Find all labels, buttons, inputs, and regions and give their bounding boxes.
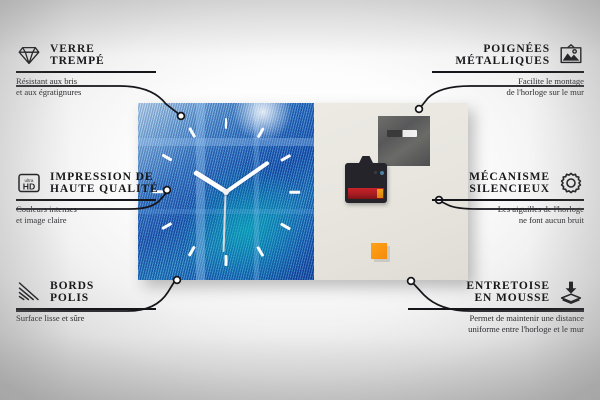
pattern-beam bbox=[138, 138, 314, 146]
feature-subtitle: Couleurs intenses et image claire bbox=[16, 204, 156, 226]
ultra-hd-icon: ultra HD bbox=[16, 170, 42, 196]
clock-tick bbox=[225, 118, 228, 129]
bracket-slot bbox=[387, 130, 417, 137]
divider bbox=[408, 308, 584, 310]
ultra-hd-large: HD bbox=[23, 181, 35, 191]
polished-edge-icon bbox=[16, 279, 42, 305]
feature-title-line: MÉTALLIQUES bbox=[455, 55, 550, 67]
divider bbox=[16, 308, 156, 310]
feature-subtitle: Facilite le montage de l'horloge sur le … bbox=[432, 76, 584, 98]
diamond-icon bbox=[16, 42, 42, 68]
feature-subtitle: Surface lisse et sûre bbox=[16, 313, 156, 324]
divider bbox=[16, 71, 156, 73]
feature-subtitle-line: Permet de maintenir une distance bbox=[408, 313, 584, 324]
feature-title-line: MÉCANISME bbox=[469, 171, 550, 183]
feature-header: ultra HD IMPRESSION DE HAUTE QUALITÉ bbox=[16, 170, 156, 196]
pattern-beam bbox=[138, 209, 314, 214]
feature-subtitle: Les aiguilles de l'horloge ne font aucun… bbox=[432, 204, 584, 226]
clock-face bbox=[138, 103, 314, 280]
feature-subtitle-line: Résistant aux bris bbox=[16, 76, 156, 87]
infographic-canvas: VERRE TREMPÉ Résistant aux bris et aux é… bbox=[0, 0, 600, 400]
feature-subtitle-line: Surface lisse et sûre bbox=[16, 313, 156, 324]
foam-spacer bbox=[371, 243, 387, 259]
divider bbox=[432, 199, 584, 201]
mechanism-hook bbox=[358, 156, 374, 165]
divider bbox=[432, 71, 584, 73]
product-photo bbox=[138, 103, 468, 280]
feature-subtitle: Résistant aux bris et aux égratignures bbox=[16, 76, 156, 98]
feature-subtitle-line: Facilite le montage bbox=[432, 76, 584, 87]
feature-subtitle-line: ne font aucun bruit bbox=[432, 215, 584, 226]
feature-header: ENTRETOISE EN MOUSSE bbox=[408, 279, 584, 305]
clock-tick bbox=[289, 190, 300, 193]
quartz-mechanism bbox=[345, 163, 387, 203]
center-pin bbox=[223, 189, 229, 195]
divider bbox=[16, 199, 156, 201]
feature-entretoise-en-mousse: ENTRETOISE EN MOUSSE Permet de maintenir… bbox=[408, 279, 584, 335]
feature-titles: POIGNÉES MÉTALLIQUES bbox=[455, 43, 550, 68]
feature-mecanisme-silencieux: MÉCANISME SILENCIEUX Les aiguilles de l'… bbox=[432, 170, 584, 226]
feature-subtitle-line: et aux égratignures bbox=[16, 87, 156, 98]
feature-subtitle-line: de l'horloge sur le mur bbox=[432, 87, 584, 98]
feature-subtitle-line: Les aiguilles de l'horloge bbox=[432, 204, 584, 215]
feature-title-line: VERRE bbox=[50, 43, 105, 55]
gear-icon bbox=[558, 170, 584, 196]
foam-spacer-icon bbox=[558, 279, 584, 305]
feature-header: BORDS POLIS bbox=[16, 279, 156, 305]
feature-title-line: POIGNÉES bbox=[455, 43, 550, 55]
feature-header: VERRE TREMPÉ bbox=[16, 42, 156, 68]
feature-bords-polis: BORDS POLIS Surface lisse et sûre bbox=[16, 279, 156, 324]
feature-subtitle-line: uniforme entre l'horloge et le mur bbox=[408, 324, 584, 335]
feature-title-line: BORDS bbox=[50, 280, 94, 292]
metal-hanging-bracket bbox=[378, 116, 430, 166]
feature-title-line: ENTRETOISE bbox=[466, 280, 550, 292]
battery bbox=[348, 188, 384, 199]
feature-title-line: HAUTE QUALITÉ bbox=[50, 183, 159, 195]
feature-titles: VERRE TREMPÉ bbox=[50, 43, 105, 68]
feature-poignees-metalliques: POIGNÉES MÉTALLIQUES Facilite le montage… bbox=[432, 42, 584, 98]
feature-title-line: IMPRESSION DE bbox=[50, 171, 159, 183]
clock-tick bbox=[225, 255, 228, 266]
feature-titles: MÉCANISME SILENCIEUX bbox=[469, 171, 550, 196]
mechanism-detail bbox=[374, 171, 377, 174]
wall-frame-icon bbox=[558, 42, 584, 68]
feature-title-line: TREMPÉ bbox=[50, 55, 105, 67]
feature-titles: BORDS POLIS bbox=[50, 280, 94, 305]
feature-titles: IMPRESSION DE HAUTE QUALITÉ bbox=[50, 171, 159, 196]
feature-titles: ENTRETOISE EN MOUSSE bbox=[466, 280, 550, 305]
feature-title-line: POLIS bbox=[50, 292, 94, 304]
feature-header: MÉCANISME SILENCIEUX bbox=[432, 170, 584, 196]
feature-verre-trempe: VERRE TREMPÉ Résistant aux bris et aux é… bbox=[16, 42, 156, 98]
feature-title-line: EN MOUSSE bbox=[466, 292, 550, 304]
pattern-beam bbox=[196, 103, 205, 280]
feature-impression-haute-qualite: ultra HD IMPRESSION DE HAUTE QUALITÉ Cou… bbox=[16, 170, 156, 226]
mechanism-detail bbox=[380, 171, 384, 175]
feature-subtitle-line: et image claire bbox=[16, 215, 156, 226]
feature-title-line: SILENCIEUX bbox=[469, 183, 550, 195]
feature-subtitle-line: Couleurs intenses bbox=[16, 204, 156, 215]
feature-header: POIGNÉES MÉTALLIQUES bbox=[432, 42, 584, 68]
feature-subtitle: Permet de maintenir une distance uniform… bbox=[408, 313, 584, 335]
